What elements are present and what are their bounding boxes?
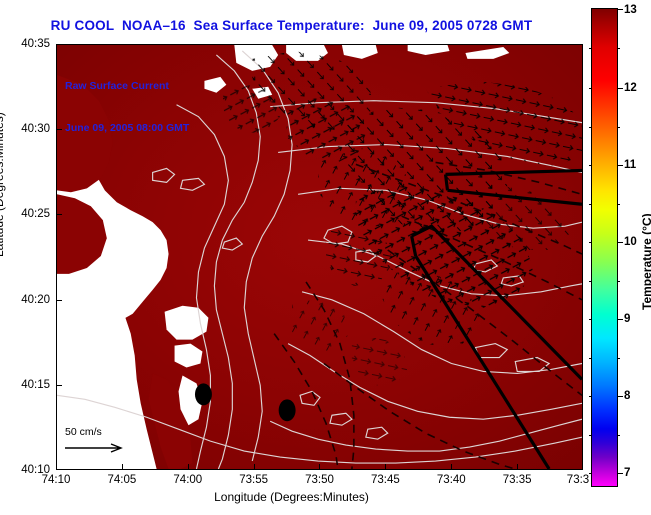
ytick-label-4: 40:15 [4, 379, 50, 391]
y-axis-label: Latitude (Degrees:Minutes) [0, 112, 6, 257]
cb-tick-12 [617, 88, 623, 89]
cb-label-1: 12 [624, 82, 637, 94]
xtick-mark-1 [122, 464, 123, 470]
xtick-mark-6 [451, 464, 452, 470]
ytick-mark-4 [56, 385, 62, 386]
page-title: RU COOL NOAA–16 Sea Surface Temperature:… [0, 18, 583, 33]
xtick-label-3: 73:55 [239, 474, 268, 486]
colorbar-title: Temperature (°C) [640, 213, 651, 310]
cb-label-3: 10 [624, 236, 637, 248]
xtick-label-4: 73:50 [305, 474, 334, 486]
cb-tick-left-8 [589, 358, 592, 359]
cb-tick-left-9 [589, 396, 592, 397]
cb-tick-11 [617, 165, 623, 166]
cb-tick-left-11 [589, 473, 592, 474]
ytick-label-2: 40:25 [4, 208, 50, 220]
cb-tick-10 [617, 242, 623, 243]
colorbar-gradient [592, 9, 617, 486]
cb-tick-left-7 [589, 319, 592, 320]
ytick-label-0: 40:35 [4, 38, 50, 50]
cb-tick-left-2 [589, 127, 592, 128]
cb-tick-left-3 [589, 165, 592, 166]
cb-tick-left-6 [589, 281, 592, 282]
cb-label-6: 7 [624, 467, 630, 479]
sst-map-plot[interactable]: Raw Surface Current June 09, 2005 08:00 … [56, 44, 583, 470]
xtick-label-2: 74:00 [173, 474, 202, 486]
cb-label-4: 9 [624, 313, 630, 325]
ytick-mark-3 [56, 300, 62, 301]
xtick-label-1: 74:05 [108, 474, 137, 486]
ytick-label-3: 40:20 [4, 294, 50, 306]
ytick-mark-2 [56, 214, 62, 215]
cb-tick-minor-3 [617, 281, 620, 282]
xtick-label-6: 73:40 [437, 474, 466, 486]
xtick-mark-2 [188, 464, 189, 470]
vector-scale-label: 50 cm/s [61, 426, 151, 439]
cb-label-5: 8 [624, 390, 630, 402]
xtick-label-7: 73:35 [503, 474, 532, 486]
ytick-mark-5 [56, 469, 62, 470]
ytick-label-1: 40:30 [4, 123, 50, 135]
cb-tick-minor-5 [617, 435, 620, 436]
cb-tick-left-1 [589, 88, 592, 89]
xtick-label-8: 73:3 [567, 474, 589, 486]
xtick-mark-4 [319, 464, 320, 470]
cb-tick-7 [617, 473, 623, 474]
cb-tick-left-10 [589, 435, 592, 436]
cb-tick-13 [617, 9, 623, 10]
xtick-mark-3 [254, 464, 255, 470]
xtick-label-5: 73:45 [371, 474, 400, 486]
cb-tick-left-4 [589, 204, 592, 205]
cb-tick-8 [617, 396, 623, 397]
cb-tick-left-0 [589, 48, 592, 49]
xtick-label-0: 74:10 [42, 474, 71, 486]
cb-tick-minor-2 [617, 204, 620, 205]
cb-label-0: 13 [624, 4, 637, 16]
sst-map-canvas [57, 45, 582, 469]
xtick-mark-5 [385, 464, 386, 470]
ytick-mark-0 [56, 44, 62, 45]
ytick-mark-1 [56, 129, 62, 130]
colorbar[interactable] [591, 8, 618, 487]
cb-tick-minor-0 [617, 48, 620, 49]
cb-tick-left-5 [589, 242, 592, 243]
x-axis-label: Longitude (Degrees:Minutes) [0, 490, 583, 504]
cb-label-2: 11 [624, 159, 636, 171]
xtick-mark-7 [517, 464, 518, 470]
cb-tick-minor-4 [617, 358, 620, 359]
cb-tick-9 [617, 319, 623, 320]
right-arrow-icon [61, 441, 135, 455]
vector-scale-key: 50 cm/s [61, 426, 151, 455]
cb-tick-minor-1 [617, 127, 620, 128]
